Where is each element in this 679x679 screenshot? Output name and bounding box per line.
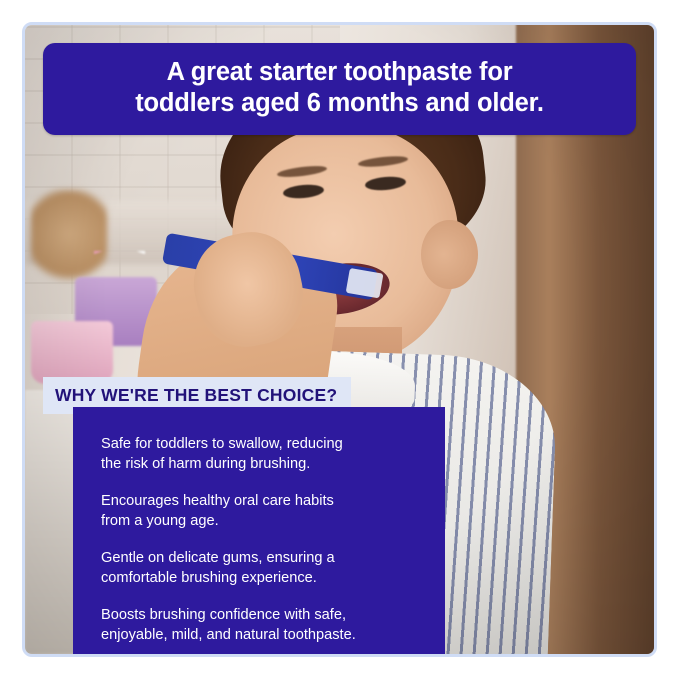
benefit-item: Safe for toddlers to swallow, reducing t… (101, 435, 419, 474)
benefit-line: Boosts brushing confidence with safe, (101, 606, 419, 626)
product-infographic-page: A great starter toothpaste for toddlers … (0, 0, 679, 679)
benefit-item: Encourages healthy oral care habits from… (101, 492, 419, 531)
benefit-item: Boosts brushing confidence with safe, en… (101, 606, 419, 645)
headline-line-2: toddlers aged 6 months and older. (61, 88, 618, 119)
headline-banner: A great starter toothpaste for toddlers … (43, 43, 636, 135)
benefit-line: enjoyable, mild, and natural toothpaste. (101, 626, 419, 646)
benefit-line: from a young age. (101, 512, 419, 532)
benefit-line: Gentle on delicate gums, ensuring a (101, 549, 419, 569)
benefit-line: Safe for toddlers to swallow, reducing (101, 435, 419, 455)
benefit-line: Encourages healthy oral care habits (101, 492, 419, 512)
infographic-card: A great starter toothpaste for toddlers … (22, 22, 657, 657)
benefit-line: the risk of harm during brushing. (101, 455, 419, 475)
benefit-item: Gentle on delicate gums, ensuring a comf… (101, 549, 419, 588)
benefit-line: comfortable brushing experience. (101, 569, 419, 589)
benefits-panel: Safe for toddlers to swallow, reducing t… (73, 407, 445, 657)
headline-line-1: A great starter toothpaste for (61, 57, 618, 88)
